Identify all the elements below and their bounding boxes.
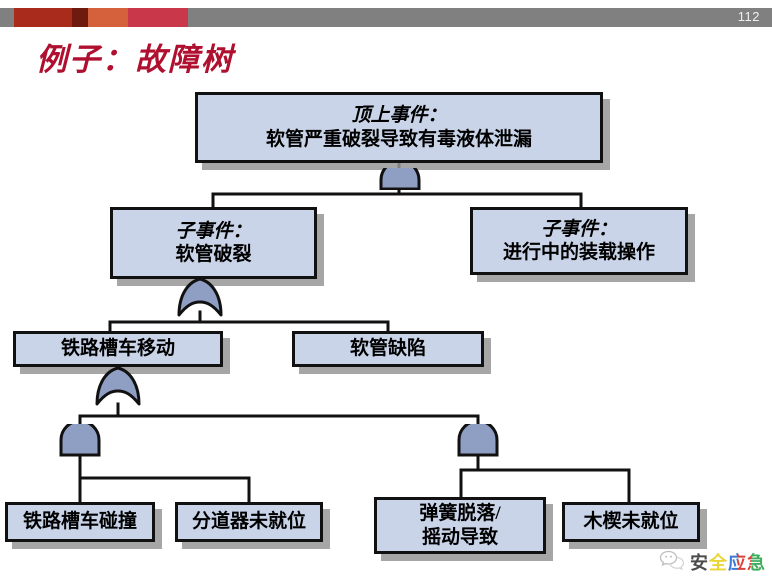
node-sub-event-hose-rupture-line-2: 软管破裂 xyxy=(175,243,251,266)
node-switch-not-in-position[interactable]: 分道器未就位 xyxy=(175,502,323,542)
node-top-event-line-1: 顶上事件： xyxy=(266,104,532,127)
watermark: 安全应急 xyxy=(659,547,766,577)
node-hose-defect[interactable]: 软管缺陷 xyxy=(292,331,484,367)
node-rail-tank-car-collision-label: 铁路槽车碰撞 xyxy=(23,510,137,533)
connector-lines xyxy=(0,0,772,581)
node-spring-detached-line-2: 摇动导致 xyxy=(419,526,500,549)
node-sub-event-loading-operation-line-2: 进行中的装载操作 xyxy=(503,241,655,264)
or-gate-rail-tank-car-movement[interactable] xyxy=(92,366,144,406)
node-top-event[interactable]: 顶上事件： 软管严重破裂导致有毒液体泄漏 xyxy=(195,92,603,163)
and-gate-top[interactable] xyxy=(377,168,423,190)
wechat-icon xyxy=(659,549,685,576)
node-spring-detached[interactable]: 弹簧脱落/ 摇动导致 xyxy=(374,497,546,554)
node-wedge-not-in-position[interactable]: 木楔未就位 xyxy=(562,502,700,542)
watermark-text: 安全应急 xyxy=(690,549,766,575)
fault-tree-diagram: 顶上事件： 软管严重破裂导致有毒液体泄漏 子事件： 软管破裂 子事件： 进行中的… xyxy=(0,0,772,581)
node-hose-defect-label: 软管缺陷 xyxy=(350,337,426,360)
node-sub-event-hose-rupture[interactable]: 子事件： 软管破裂 xyxy=(110,207,317,279)
node-rail-tank-car-movement-label: 铁路槽车移动 xyxy=(61,337,175,360)
node-wedge-not-in-position-label: 木楔未就位 xyxy=(583,510,678,533)
and-gate-left[interactable] xyxy=(57,424,103,457)
node-spring-detached-line-1: 弹簧脱落/ xyxy=(419,502,500,525)
node-top-event-line-2: 软管严重破裂导致有毒液体泄漏 xyxy=(266,128,532,151)
or-gate-hose-rupture[interactable] xyxy=(174,277,226,317)
node-rail-tank-car-collision[interactable]: 铁路槽车碰撞 xyxy=(5,502,155,542)
node-rail-tank-car-movement[interactable]: 铁路槽车移动 xyxy=(13,331,223,367)
and-gate-right[interactable] xyxy=(455,424,501,457)
node-sub-event-loading-operation[interactable]: 子事件： 进行中的装载操作 xyxy=(470,207,688,275)
node-switch-not-in-position-label: 分道器未就位 xyxy=(192,510,306,533)
node-sub-event-hose-rupture-line-1: 子事件： xyxy=(175,220,251,243)
node-sub-event-loading-operation-line-1: 子事件： xyxy=(503,218,655,241)
